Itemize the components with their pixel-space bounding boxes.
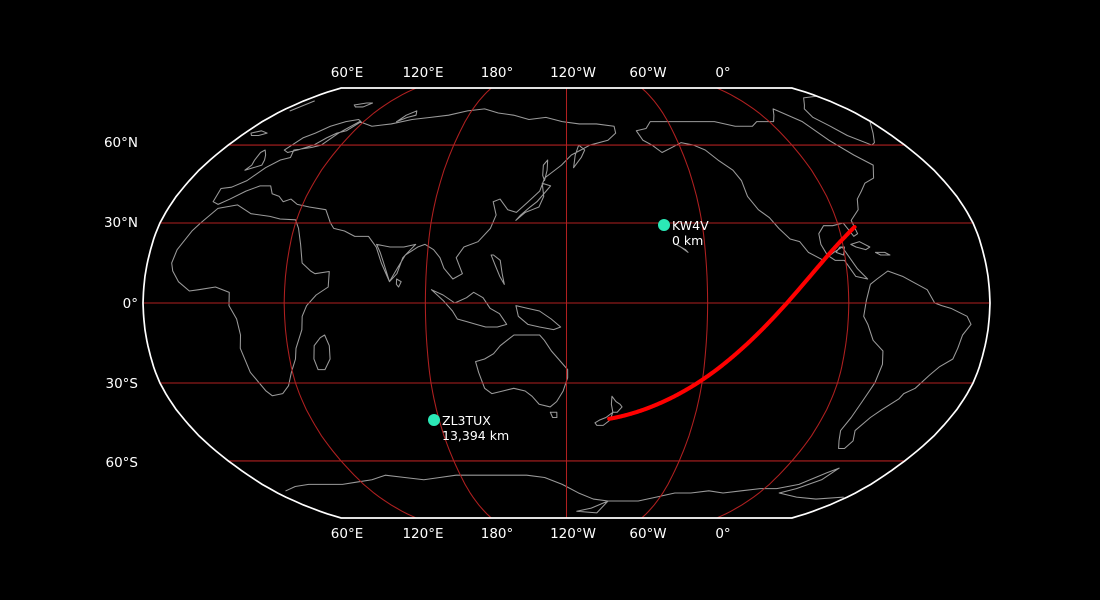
map-canvas[interactable]: 60°E120°E180°120°W60°W0° 60°E120°E180°12… — [0, 0, 1100, 600]
lon-tick-label: 120°E — [402, 65, 443, 81]
station-distance-label: 13,394 km — [442, 428, 509, 443]
lon-tick-label: 0° — [715, 526, 730, 542]
lon-tick-label: 60°E — [331, 65, 363, 81]
map-background — [0, 0, 1100, 600]
lat-tick-label: 30°N — [104, 215, 138, 231]
lon-tick-label: 180° — [481, 526, 514, 542]
lon-tick-label: 120°E — [402, 526, 443, 542]
lon-tick-label: 60°W — [629, 65, 666, 81]
lon-tick-label: 60°W — [629, 526, 666, 542]
station-callsign-label: ZL3TUX — [442, 413, 491, 428]
station-callsign-label: KW4V — [672, 218, 709, 233]
lon-tick-label: 120°W — [550, 526, 596, 542]
station-distance-label: 0 km — [672, 233, 703, 248]
station-dot-icon[interactable] — [428, 414, 440, 426]
lat-tick-label: 0° — [123, 296, 138, 312]
lon-tick-label: 0° — [715, 65, 730, 81]
map-visualization: Robinson Projection EL98 to RE66HO (234°… — [0, 0, 1100, 600]
lat-tick-label: 60°N — [104, 135, 138, 151]
station-dot-icon[interactable] — [658, 219, 670, 231]
lat-tick-label: 30°S — [106, 376, 139, 392]
lat-tick-label: 60°S — [106, 455, 139, 471]
lon-tick-label: 60°E — [331, 526, 363, 542]
lon-tick-label: 120°W — [550, 65, 596, 81]
lon-tick-label: 180° — [481, 65, 514, 81]
